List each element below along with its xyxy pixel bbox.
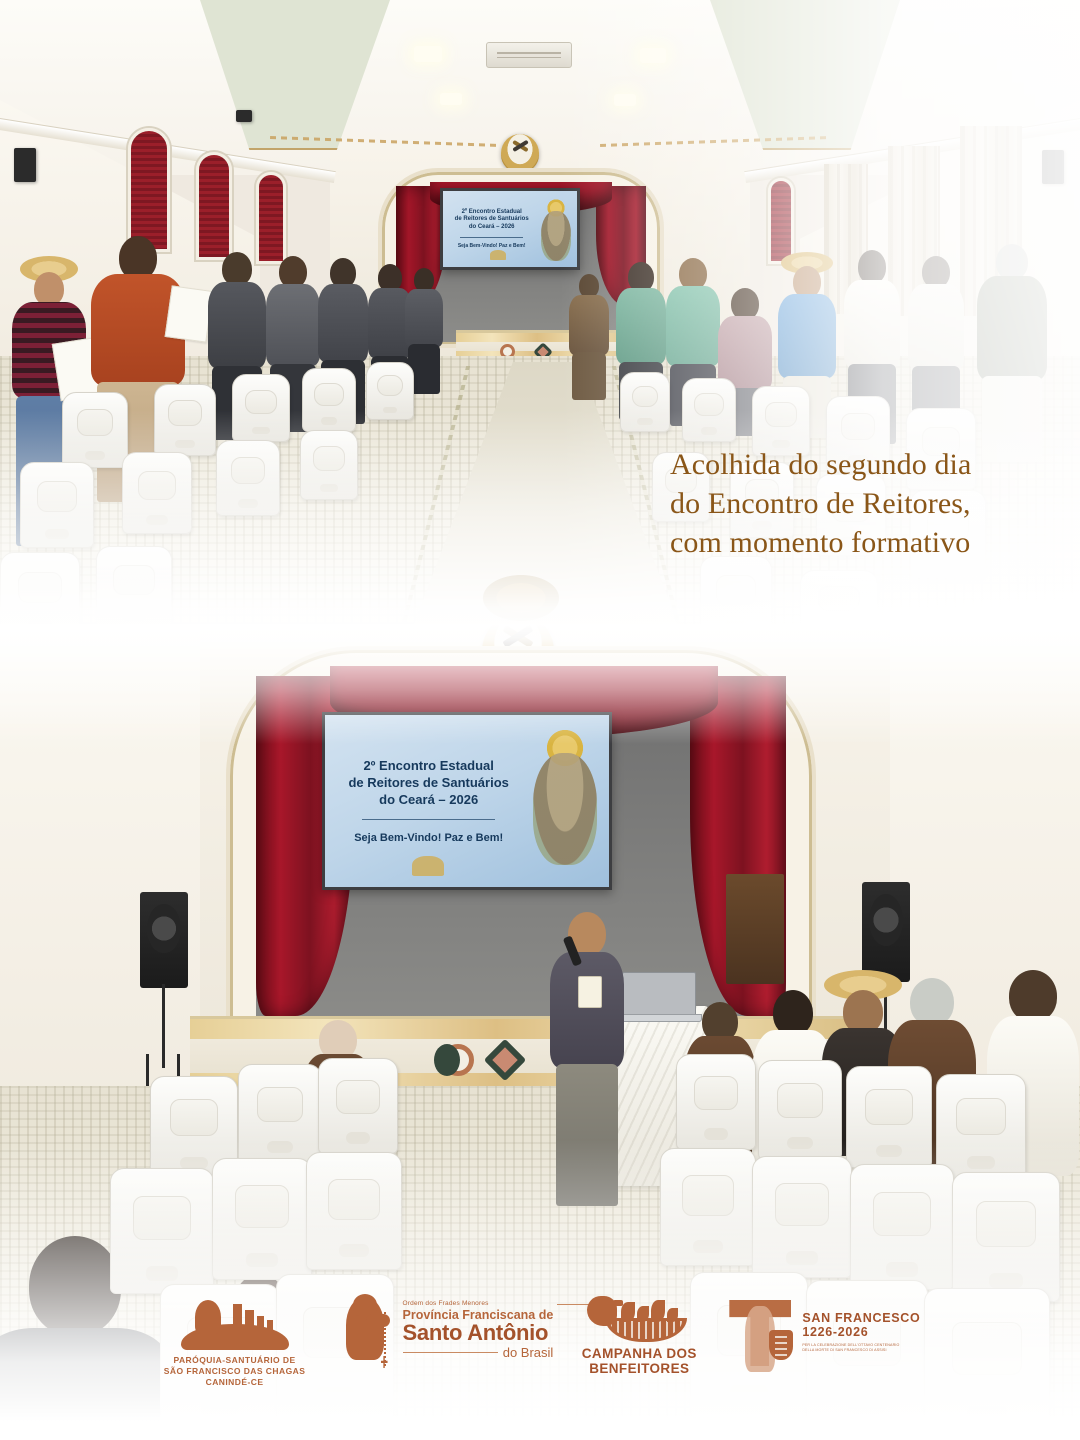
san-francesco-line-2: 1226-2026 bbox=[802, 1326, 920, 1340]
projection-screen: 2º Encontro Estadual de Reitores de Sant… bbox=[440, 188, 580, 270]
san-francesco-text-block: SAN FRANCESCO 1226-2026 PER LA CELEBRAZI… bbox=[802, 1296, 920, 1353]
wall-speaker bbox=[236, 110, 252, 122]
chair bbox=[300, 430, 358, 500]
person-head bbox=[1009, 970, 1057, 1022]
slide-footer-logo bbox=[412, 856, 444, 876]
paroquia-mark-icon bbox=[175, 1296, 295, 1350]
logo-san-francesco-centenario: SAN FRANCESCO 1226-2026 PER LA CELEBRAZI… bbox=[725, 1296, 920, 1376]
chair bbox=[936, 1074, 1026, 1180]
ceiling-light bbox=[614, 94, 636, 106]
ceiling-light bbox=[640, 48, 666, 63]
chair bbox=[846, 1066, 932, 1168]
church-tower-icon bbox=[233, 1304, 242, 1332]
church-tower-icon bbox=[257, 1316, 264, 1332]
logo-paroquia-santuario: PARÓQUIA-SANTUÁRIO DE SÃO FRANCISCO DAS … bbox=[160, 1296, 310, 1389]
slide-welcome: Seja Bem-Vindo! Paz e Bem! bbox=[336, 832, 521, 844]
provincia-rule bbox=[403, 1352, 498, 1353]
saint-body bbox=[541, 211, 571, 261]
footer-logo-bar: PARÓQUIA-SANTUÁRIO DE SÃO FRANCISCO DAS … bbox=[0, 1280, 1080, 1440]
slide-divider bbox=[362, 819, 495, 820]
chair bbox=[110, 1168, 214, 1294]
attendee-standing bbox=[974, 244, 1050, 464]
person-legs bbox=[572, 352, 606, 400]
chair bbox=[758, 1060, 842, 1160]
person-torso bbox=[266, 284, 320, 366]
paroquia-line-2: SÃO FRANCISCO DAS CHAGAS bbox=[160, 1366, 310, 1377]
slide-line-3: do Ceará – 2026 bbox=[336, 792, 521, 809]
caption-line-1: Acolhida do segundo dia bbox=[670, 445, 1070, 484]
person-torso bbox=[208, 282, 266, 368]
logo-provincia-franciscana: Ordem dos Frades Menores Província Franc… bbox=[336, 1296, 554, 1374]
wooden-cabinet bbox=[726, 874, 784, 984]
person-head bbox=[858, 250, 886, 284]
person-head bbox=[34, 272, 64, 306]
pa-speaker-left bbox=[140, 892, 188, 988]
tau-cross-icon bbox=[725, 1296, 797, 1376]
chair bbox=[676, 1054, 756, 1150]
saint-francis-silhouette-icon bbox=[195, 1300, 221, 1334]
basket-shape bbox=[605, 1318, 687, 1342]
chair bbox=[96, 546, 172, 630]
chair bbox=[122, 452, 192, 534]
floor-medallion bbox=[478, 572, 564, 624]
chair bbox=[216, 440, 280, 516]
chair bbox=[850, 1164, 954, 1290]
person-torso bbox=[405, 289, 443, 347]
church-tower-icon bbox=[267, 1320, 273, 1332]
slide-content: 2º Encontro Estadual de Reitores de Sant… bbox=[443, 191, 577, 267]
chair bbox=[20, 462, 94, 548]
window-shutter bbox=[128, 128, 170, 252]
person-torso bbox=[569, 295, 609, 355]
chair bbox=[366, 362, 414, 420]
provincia-line-3: do Brasil bbox=[503, 1345, 554, 1360]
air-conditioner-unit bbox=[486, 42, 572, 68]
person-torso bbox=[318, 284, 368, 362]
slide-content: 2º Encontro Estadual de Reitores de Sant… bbox=[325, 715, 609, 887]
person-torso bbox=[616, 288, 666, 364]
slide-divider bbox=[460, 237, 522, 238]
chair bbox=[154, 384, 216, 456]
name-badge bbox=[578, 976, 602, 1008]
speaker-presenter bbox=[548, 912, 626, 1208]
saint-illustration bbox=[535, 191, 577, 267]
chair bbox=[302, 368, 356, 432]
slide-footer-logo bbox=[490, 250, 506, 260]
basket-with-bird-icon bbox=[585, 1296, 693, 1342]
attendee-standing bbox=[568, 274, 610, 402]
person-legs bbox=[556, 1064, 618, 1206]
slide-welcome: Seja Bem-Vindo! Paz e Bem! bbox=[448, 243, 535, 249]
poster: 2º Encontro Estadual de Reitores de Sant… bbox=[0, 0, 1080, 1440]
wall-speaker bbox=[1042, 150, 1064, 184]
chair bbox=[318, 1058, 398, 1154]
person-torso bbox=[908, 284, 964, 370]
person-torso bbox=[778, 294, 836, 378]
chair bbox=[232, 374, 290, 442]
chair bbox=[238, 1064, 322, 1164]
person-head bbox=[996, 244, 1028, 280]
person-torso bbox=[844, 280, 900, 368]
shield-icon bbox=[769, 1330, 793, 1360]
campanha-line-1: CAMPANHA DOS bbox=[579, 1346, 699, 1361]
chair bbox=[660, 1148, 756, 1266]
provincia-text-block: Ordem dos Frades Menores Província Franc… bbox=[403, 1296, 554, 1360]
person-torso bbox=[666, 286, 720, 366]
person-head bbox=[222, 252, 252, 286]
franciscan-crest bbox=[501, 134, 539, 172]
friar-with-rosary-icon bbox=[336, 1296, 396, 1374]
paroquia-line-3: CANINDÉ-CE bbox=[160, 1377, 310, 1388]
window-shutter bbox=[256, 172, 286, 264]
person-head bbox=[910, 978, 954, 1026]
saint-illustration bbox=[521, 715, 609, 887]
san-francesco-subtitle: PER LA CELEBRAZIONE DELL'OTTAVO CENTENAR… bbox=[802, 1343, 910, 1354]
slide-line-1: 2º Encontro Estadual bbox=[336, 758, 521, 775]
slide-line-2: de Reitores de Santuários bbox=[448, 216, 535, 224]
wall-speaker bbox=[14, 148, 36, 182]
rosary-icon bbox=[372, 1312, 386, 1366]
slide-line-3: do Ceará – 2026 bbox=[448, 224, 535, 232]
pa-speaker-right bbox=[862, 882, 910, 982]
slide-line-1: 2º Encontro Estadual bbox=[448, 209, 535, 217]
caption-line-3: com momento formativo bbox=[670, 523, 1070, 562]
provincia-line-3-row: do Brasil bbox=[403, 1345, 554, 1360]
bird-icon bbox=[587, 1296, 617, 1326]
caption-line-2: do Encontro de Reitores, bbox=[670, 484, 1070, 523]
church-tower-icon bbox=[245, 1310, 254, 1332]
chair bbox=[752, 1156, 852, 1278]
chair bbox=[212, 1158, 312, 1280]
window-shutter bbox=[196, 152, 232, 260]
saint-body bbox=[533, 753, 597, 865]
san-francesco-line-1: SAN FRANCESCO bbox=[802, 1312, 920, 1326]
campanha-line-2: BENFEITORES bbox=[579, 1361, 699, 1376]
logo-campanha-dos-benfeitores: CAMPANHA DOS BENFEITORES bbox=[579, 1296, 699, 1377]
slide-line-2: de Reitores de Santuários bbox=[336, 775, 521, 792]
ceiling-light bbox=[440, 93, 462, 105]
chair bbox=[682, 378, 736, 442]
provincia-ofm-line: Ordem dos Frades Menores bbox=[403, 1300, 554, 1307]
slide-text-block: 2º Encontro Estadual de Reitores de Sant… bbox=[443, 209, 535, 249]
provincia-line-2: Santo Antônio bbox=[403, 1322, 554, 1344]
stage-inlay-crescent bbox=[434, 1044, 460, 1076]
caption-block: Acolhida do segundo dia do Encontro de R… bbox=[670, 445, 1070, 562]
person-torso bbox=[550, 952, 624, 1068]
chair bbox=[306, 1152, 402, 1270]
ceiling-light bbox=[414, 46, 442, 62]
person-torso bbox=[977, 276, 1047, 380]
projection-screen: 2º Encontro Estadual de Reitores de Sant… bbox=[322, 712, 612, 890]
slide-text-block: 2º Encontro Estadual de Reitores de Sant… bbox=[325, 758, 521, 843]
chair bbox=[620, 372, 670, 432]
chair bbox=[62, 392, 128, 468]
paroquia-line-1: PARÓQUIA-SANTUÁRIO DE bbox=[160, 1355, 310, 1366]
